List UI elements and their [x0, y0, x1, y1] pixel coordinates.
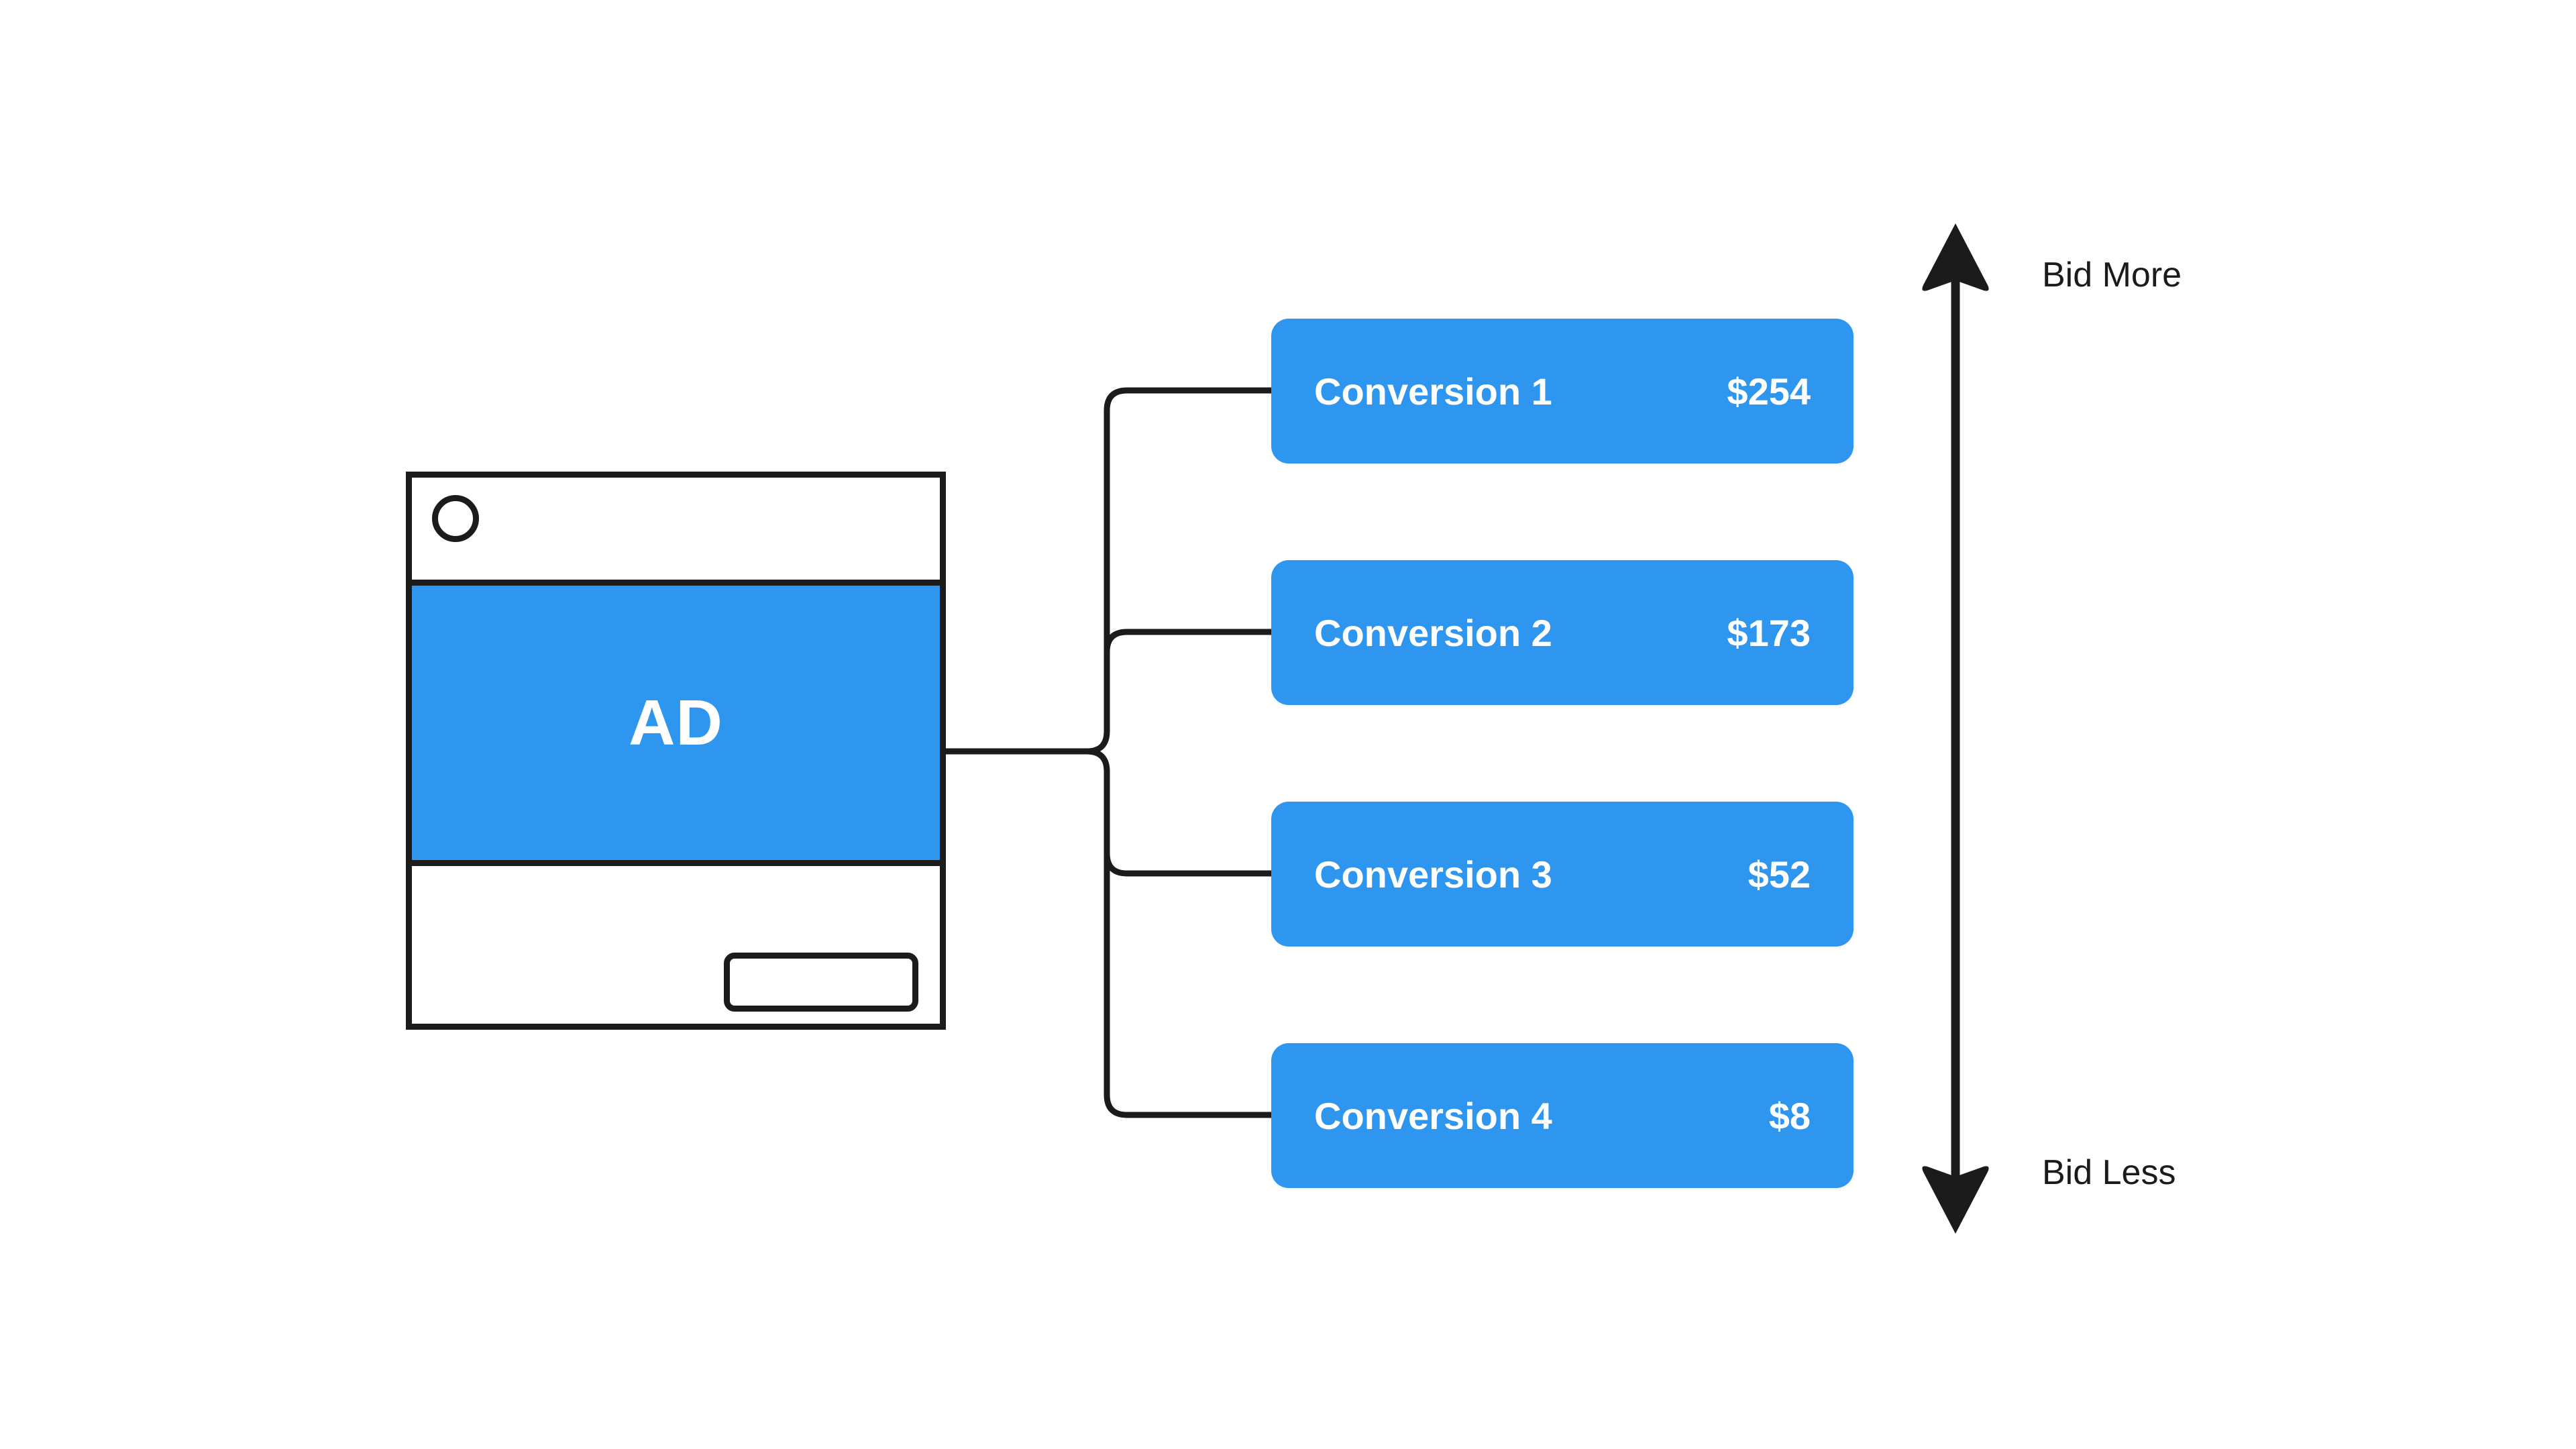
arrow-up-icon: [1922, 223, 1988, 291]
connector-branch-3: [1087, 751, 1271, 873]
ad-card-header: [412, 478, 940, 586]
profile-circle-icon: [432, 495, 479, 542]
diagram-canvas: AD Conversion 1 $254 Conversion 2 $173 C…: [0, 0, 2576, 1449]
ad-cta-button[interactable]: [724, 953, 918, 1012]
conversion-card[interactable]: Conversion 3 $52: [1271, 802, 1854, 947]
conversion-label: Conversion 4: [1314, 1094, 1552, 1138]
ad-mockup-card: AD: [406, 472, 946, 1030]
conversion-value: $173: [1727, 611, 1811, 655]
connector-lines: [0, 0, 2576, 1449]
conversion-value: $254: [1727, 370, 1811, 413]
conversion-card[interactable]: Conversion 1 $254: [1271, 319, 1854, 464]
conversion-card[interactable]: Conversion 2 $173: [1271, 560, 1854, 705]
conversion-label: Conversion 3: [1314, 853, 1552, 896]
conversion-value: $52: [1748, 853, 1811, 896]
connector-branch-1: [1087, 390, 1271, 751]
connector-branch-4: [1107, 771, 1271, 1115]
conversion-value: $8: [1769, 1094, 1811, 1138]
conversion-label: Conversion 2: [1314, 611, 1552, 655]
ad-card-footer: [412, 866, 940, 1024]
conversion-label: Conversion 1: [1314, 370, 1552, 413]
conversion-card[interactable]: Conversion 4 $8: [1271, 1043, 1854, 1188]
arrow-down-icon: [1922, 1166, 1988, 1234]
ad-banner-label: AD: [629, 691, 723, 755]
bid-more-label: Bid More: [2042, 255, 2182, 295]
bid-less-label: Bid Less: [2042, 1152, 2176, 1193]
connector-branch-2: [1107, 632, 1271, 731]
ad-banner: AD: [412, 586, 940, 866]
